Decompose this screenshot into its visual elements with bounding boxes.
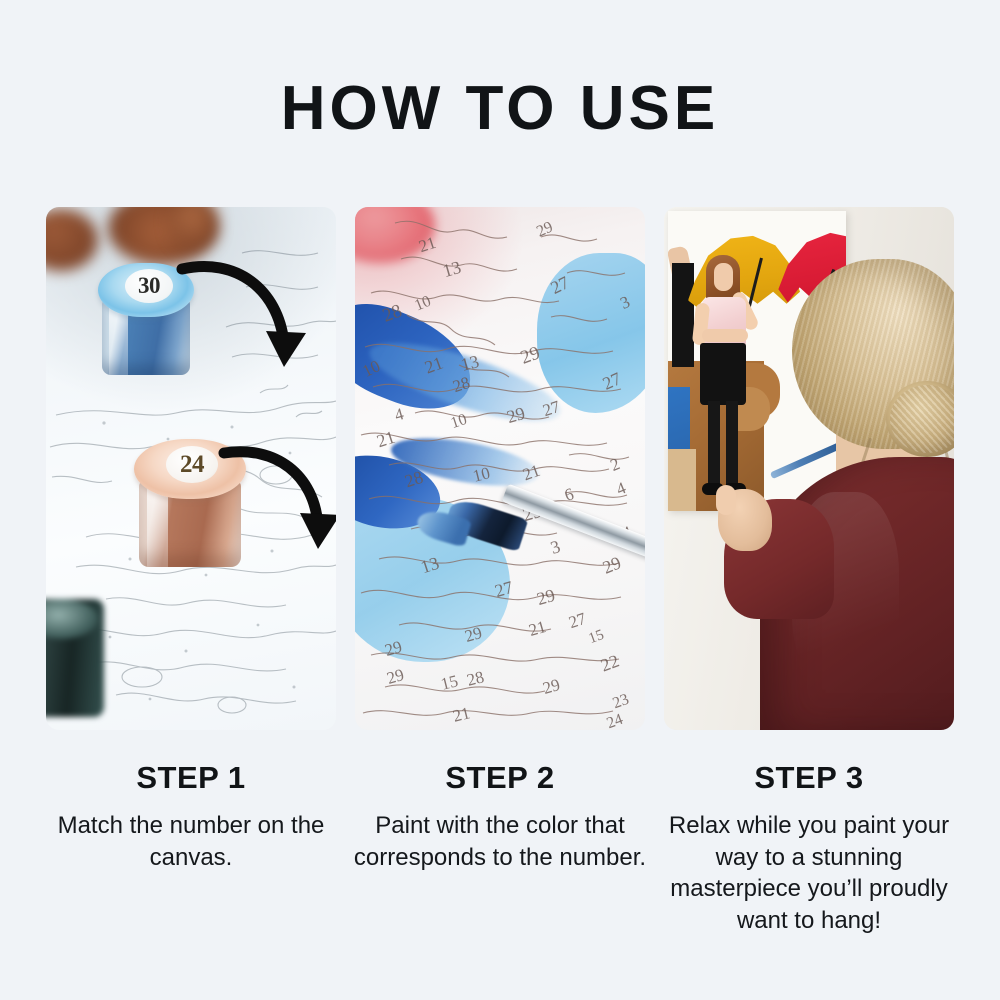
step-3-description: Relax while you paint your way to a stun…: [659, 810, 959, 937]
woman-finger: [716, 485, 736, 515]
step-1-label: STEP 1: [136, 760, 245, 796]
arrow-icon: [174, 259, 324, 409]
paint-pot-number-label: 30: [125, 269, 173, 303]
page-title: HOW TO USE: [0, 76, 1000, 141]
painting-figure-folded-arms: [702, 329, 748, 342]
steps-container: 30 24: [46, 207, 954, 937]
arrow-icon: [218, 445, 336, 585]
step-2-description: Paint with the color that corresponds to…: [350, 810, 650, 873]
painting-figure-skirt: [700, 343, 746, 405]
step-3-label: STEP 3: [754, 760, 863, 796]
step-column-3: STEP 3 Relax while you paint your way to…: [664, 207, 954, 937]
step-2-photo: 21 13 28 10 27 29 10 21 13 28 29 27 4 21…: [355, 207, 645, 730]
painting-figure-leg: [726, 401, 738, 487]
step-1-description: Match the number on the canvas.: [41, 810, 341, 873]
painting-figure-leg: [708, 401, 720, 487]
painting-tan-shape: [668, 449, 696, 511]
painting-side-figure: [672, 263, 694, 367]
painting-figure-face: [714, 263, 733, 291]
blurred-dark-paint-pot: [46, 599, 104, 717]
step-1-photo: 30 24: [46, 207, 336, 730]
step-2-label: STEP 2: [445, 760, 554, 796]
step-3-photo: [664, 207, 954, 730]
step-column-1: 30 24: [46, 207, 336, 937]
paint-pot-number-label: 24: [166, 446, 218, 483]
step-column-2: 21 13 28 10 27 29 10 21 13 28 29 27 4 21…: [355, 207, 645, 937]
how-to-use-infographic: HOW TO USE: [0, 0, 1000, 1000]
